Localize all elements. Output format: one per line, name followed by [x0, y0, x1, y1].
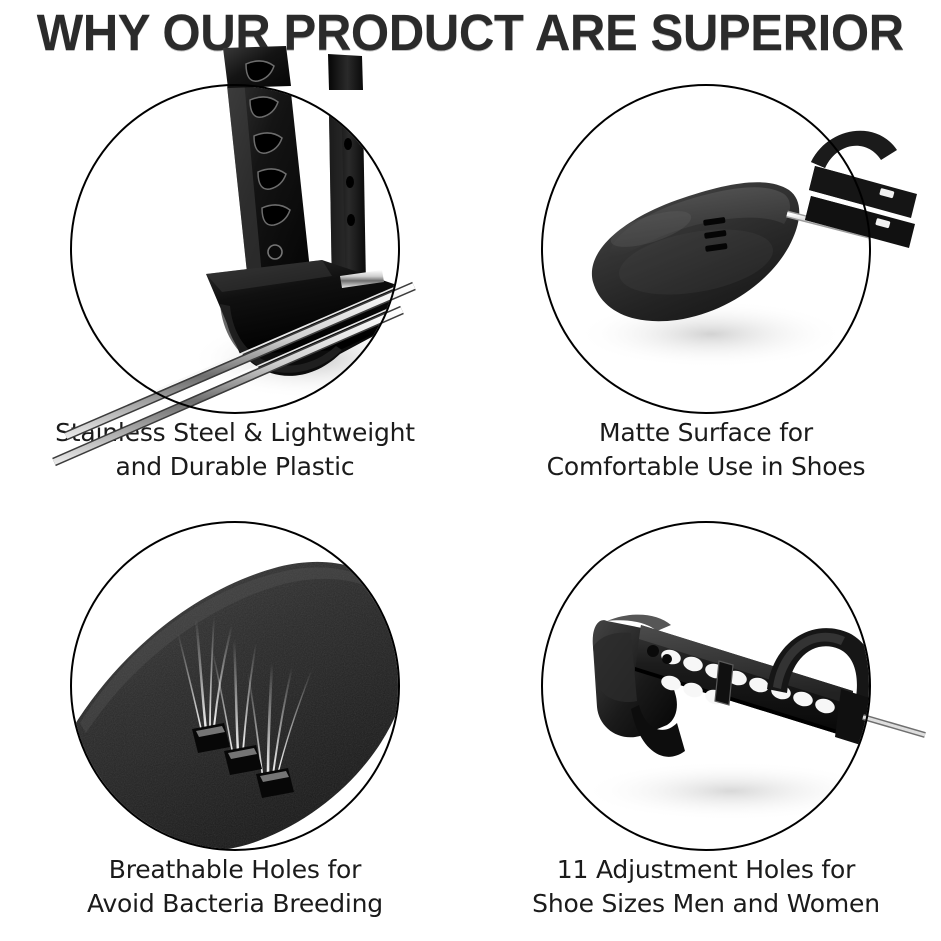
feature-cell-stainless-steel: Stainless Steel & Lightweight and Durabl…: [0, 64, 470, 502]
feature-photo-adjustment-holes: [541, 521, 871, 851]
shoe-tree-heel-with-steel-rods-photo: [70, 84, 400, 414]
infographic-page: WHY OUR PRODUCT ARE SUPERIOR: [0, 0, 941, 941]
breathable-holes-airflow-photo: [70, 521, 400, 851]
feature-cell-matte-surface: Matte Surface for Comfortable Use in Sho…: [471, 64, 941, 502]
feature-cell-adjustment-holes: 11 Adjustment Holes for Shoe Sizes Men a…: [471, 501, 941, 939]
feature-photo-breathable-holes: [70, 521, 400, 851]
feature-photo-matte-surface: [541, 84, 871, 414]
feature-grid: Stainless Steel & Lightweight and Durabl…: [0, 64, 941, 941]
adjustment-bar-holes-photo: [541, 521, 871, 851]
matte-toe-cap-photo: [541, 84, 871, 414]
feature-photo-stainless-steel: [70, 84, 400, 414]
feature-cell-breathable-holes: Breathable Holes for Avoid Bacteria Bree…: [0, 501, 470, 939]
